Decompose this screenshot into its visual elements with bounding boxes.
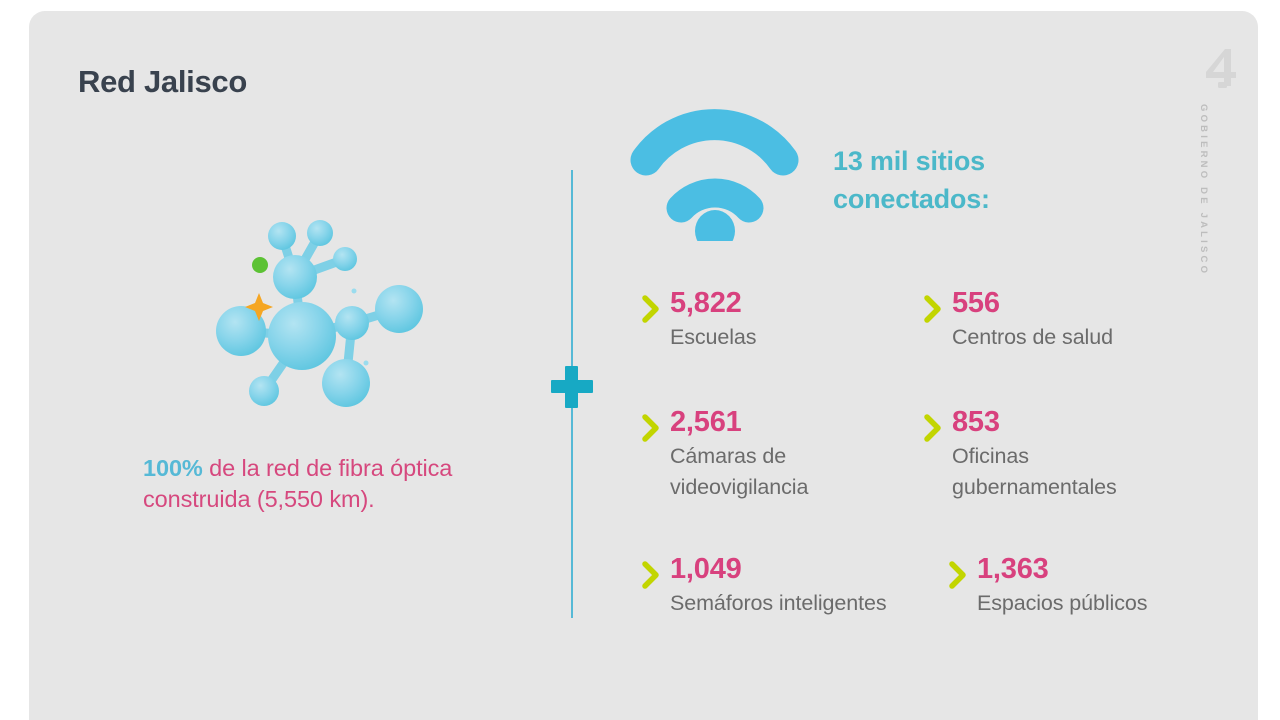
stat-value: 556: [952, 288, 1113, 319]
stats-row: 2,561 Cámaras de videovigilancia 853 Ofi…: [623, 407, 1253, 554]
jalisco-four-logo-icon: [1198, 46, 1244, 90]
plus-icon: [551, 366, 593, 408]
green-dot-accent: [252, 257, 268, 273]
page-title: Red Jalisco: [78, 64, 247, 100]
stat-label: Centros de salud: [952, 322, 1113, 353]
chevron-right-icon: [641, 560, 661, 590]
stat-item-escuelas: 5,822 Escuelas: [641, 288, 756, 353]
chevron-right-icon: [641, 413, 661, 443]
slide-card: Red Jalisco: [29, 11, 1258, 720]
stat-item-oficinas-gubernamentales: 853 Oficinas gubernamentales: [923, 407, 1117, 502]
stats-row: 1,049 Semáforos inteligentes 1,363 Espac…: [623, 554, 1253, 644]
stat-value: 2,561: [670, 407, 808, 438]
stat-label: Cámaras de videovigilancia: [670, 441, 808, 502]
stat-value: 5,822: [670, 288, 756, 319]
slide-root: Red Jalisco: [0, 0, 1280, 720]
vertical-divider: [542, 170, 602, 618]
stat-value: 1,363: [977, 554, 1147, 585]
stat-item-camaras-de-videovigilancia: 2,561 Cámaras de videovigilancia: [641, 407, 808, 502]
connected-sites-headline: 13 mil sitios conectados:: [833, 142, 1133, 219]
chevron-right-icon: [923, 294, 943, 324]
chevron-right-icon: [923, 413, 943, 443]
stat-item-centros-de-salud: 556 Centros de salud: [923, 288, 1113, 353]
chevron-right-icon: [948, 560, 968, 590]
stat-label: Oficinas gubernamentales: [952, 441, 1117, 502]
stat-item-semaforos-inteligentes: 1,049 Semáforos inteligentes: [641, 554, 887, 619]
watermark: GOBIERNO DE JALISCO: [1198, 46, 1244, 276]
watermark-text: GOBIERNO DE JALISCO: [1198, 104, 1209, 276]
wifi-icon: [623, 96, 838, 241]
stat-value: 1,049: [670, 554, 887, 585]
stat-label: Espacios públicos: [977, 588, 1147, 619]
stat-value: 853: [952, 407, 1117, 438]
fiber-percent-value: 100%: [143, 455, 203, 481]
molecule-network-illustration: [194, 211, 454, 441]
chevron-right-icon: [641, 294, 661, 324]
stat-item-espacios-publicos: 1,363 Espacios públicos: [948, 554, 1147, 619]
stats-row: 5,822 Escuelas 556 Centros de salud: [623, 288, 1253, 407]
fiber-optic-caption: 100% de la red de fibra óptica construid…: [143, 453, 473, 516]
stat-label: Semáforos inteligentes: [670, 588, 887, 619]
stat-label: Escuelas: [670, 322, 756, 353]
stats-grid: 5,822 Escuelas 556 Centros de salud: [623, 288, 1253, 644]
